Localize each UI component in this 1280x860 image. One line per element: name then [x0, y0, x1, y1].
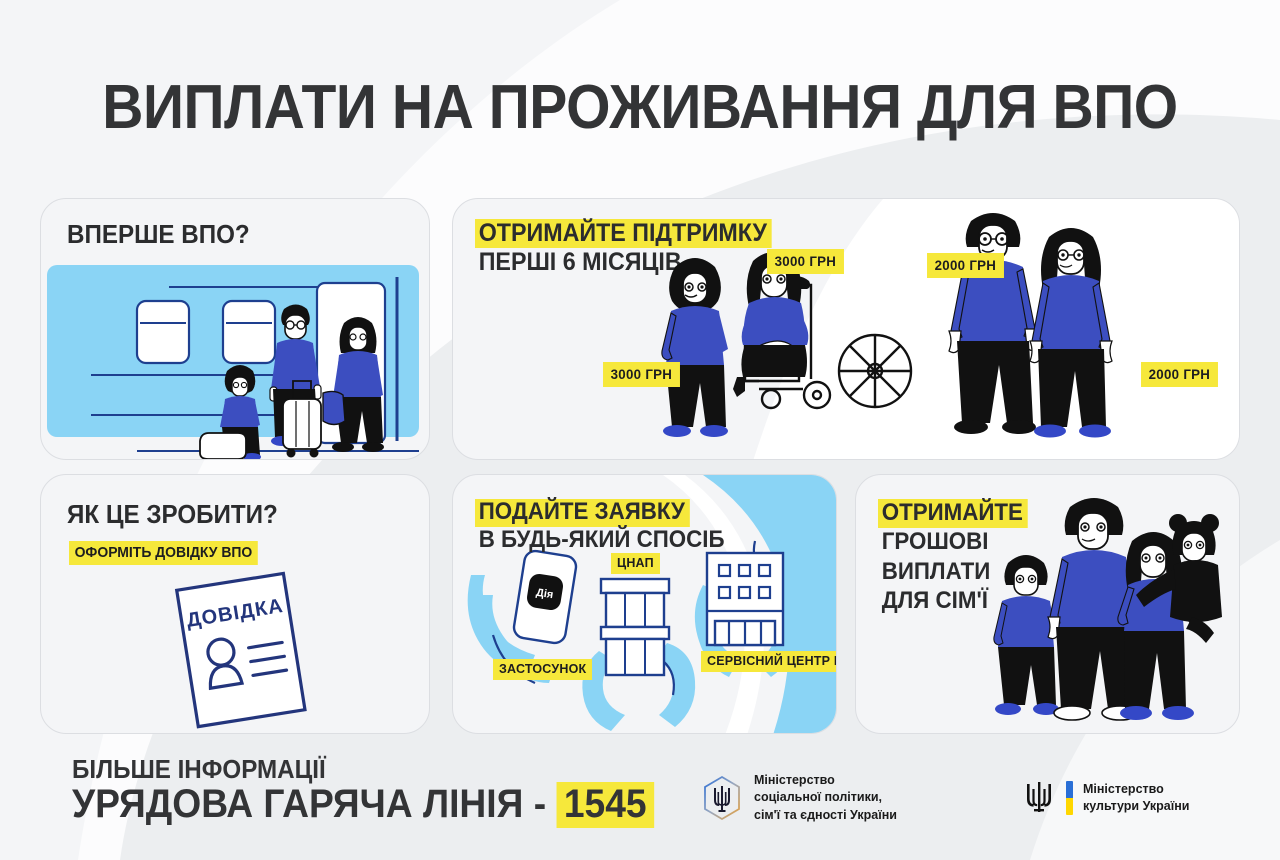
- infographic-page: ВИПЛАТИ НА ПРОЖИВАННЯ ДЛЯ ВПО ВПЕРШЕ ВПО…: [0, 0, 1280, 860]
- train-family-svg: [41, 265, 430, 460]
- certificate-illustration: ДОВІДКА: [41, 571, 430, 731]
- ministry-culture-logo: Міністерство культури України: [1022, 778, 1189, 818]
- card-how-to: ЯК ЦЕ ЗРОБИТИ? ОФОРМІТЬ ДОВІДКУ ВПО ДОВІ…: [40, 474, 430, 734]
- card-receive-support: ОТРИМАЙТЕ ПІДТРИМКУ ПЕРШІ 6 МІСЯЦІВ: [452, 198, 1240, 460]
- card-how-header: ЯК ЦЕ ЗРОБИТИ?: [67, 501, 278, 528]
- footer-hotline-number: 1545: [556, 782, 654, 828]
- card-apply-header-highlight: ПОДАЙТЕ ЗАЯВКУ: [475, 499, 690, 527]
- badge-amount-4: 2000 ГРН: [1141, 362, 1218, 387]
- ministry-social-policy-logo: Міністерство соціальної політики, сім'ї …: [700, 772, 897, 824]
- figure-mother: [332, 317, 384, 452]
- footer: БІЛЬШЕ ІНФОРМАЦІЇ УРЯДОВА ГАРЯЧА ЛІНІЯ -…: [0, 742, 1280, 860]
- card-receive-header-line4: ДЛЯ СІМ'Ї: [878, 587, 992, 616]
- hand-with-cnap-icon: [582, 579, 695, 731]
- trident-hexagon-icon: [700, 774, 744, 822]
- support-figures-svg: [453, 199, 1240, 460]
- card-receive-header: ОТРИМАЙТЕ ГРОШОВІ ВИПЛАТИ ДЛЯ СІМ'Ї: [878, 499, 1028, 617]
- page-title: ВИПЛАТИ НА ПРОЖИВАННЯ ДЛЯ ВПО: [51, 72, 1229, 143]
- card-apply-header-plain: В БУДЬ-ЯКИЙ СПОСІБ: [475, 527, 728, 555]
- card-apply-header: ПОДАЙТЕ ЗАЯВКУ В БУДЬ-ЯКИЙ СПОСІБ: [475, 499, 728, 555]
- ministry-culture-text: Міністерство культури України: [1083, 781, 1189, 816]
- label-option-cnap: ЦНАП: [611, 553, 660, 574]
- ukraine-flag-bar: [1066, 781, 1073, 815]
- figure-young-girl: [662, 258, 728, 437]
- trident-icon: [1022, 778, 1056, 818]
- footer-hotline-label: УРЯДОВА ГАРЯЧА ЛІНІЯ -: [72, 782, 546, 826]
- label-option-pfu: СЕРВІСНИЙ ЦЕНТР ПФУ: [701, 651, 837, 672]
- card-receive-header-highlight: ОТРИМАЙТЕ: [878, 499, 1028, 528]
- card-first-time-idp: ВПЕРШЕ ВПО?: [40, 198, 430, 460]
- badge-amount-1: 3000 ГРН: [603, 362, 680, 387]
- card-receive-header-line2: ГРОШОВІ: [878, 528, 992, 557]
- card-first-header: ВПЕРШЕ ВПО?: [67, 221, 250, 248]
- train-illustration: [41, 265, 429, 459]
- card-how-badge: ОФОРМІТЬ ДОВІДКУ ВПО: [69, 541, 258, 565]
- footer-hotline-line: УРЯДОВА ГАРЯЧА ЛІНІЯ - 1545: [72, 782, 654, 827]
- card-apply: ПОДАЙТЕ ЗАЯВКУ В БУДЬ-ЯКИЙ СПОСІБ Дія: [452, 474, 837, 734]
- label-option-app: ЗАСТОСУНОК: [493, 659, 592, 680]
- card-receive-header-line3: ВИПЛАТИ: [878, 558, 994, 587]
- ministry-social-policy-text: Міністерство соціальної політики, сім'ї …: [754, 772, 897, 824]
- card-receive-payments: ОТРИМАЙТЕ ГРОШОВІ ВИПЛАТИ ДЛЯ СІМ'Ї: [855, 474, 1240, 734]
- footer-more-info: БІЛЬШЕ ІНФОРМАЦІЇ: [72, 754, 326, 785]
- badge-amount-3: 2000 ГРН: [927, 253, 1004, 278]
- badge-amount-2: 3000 ГРН: [767, 249, 844, 274]
